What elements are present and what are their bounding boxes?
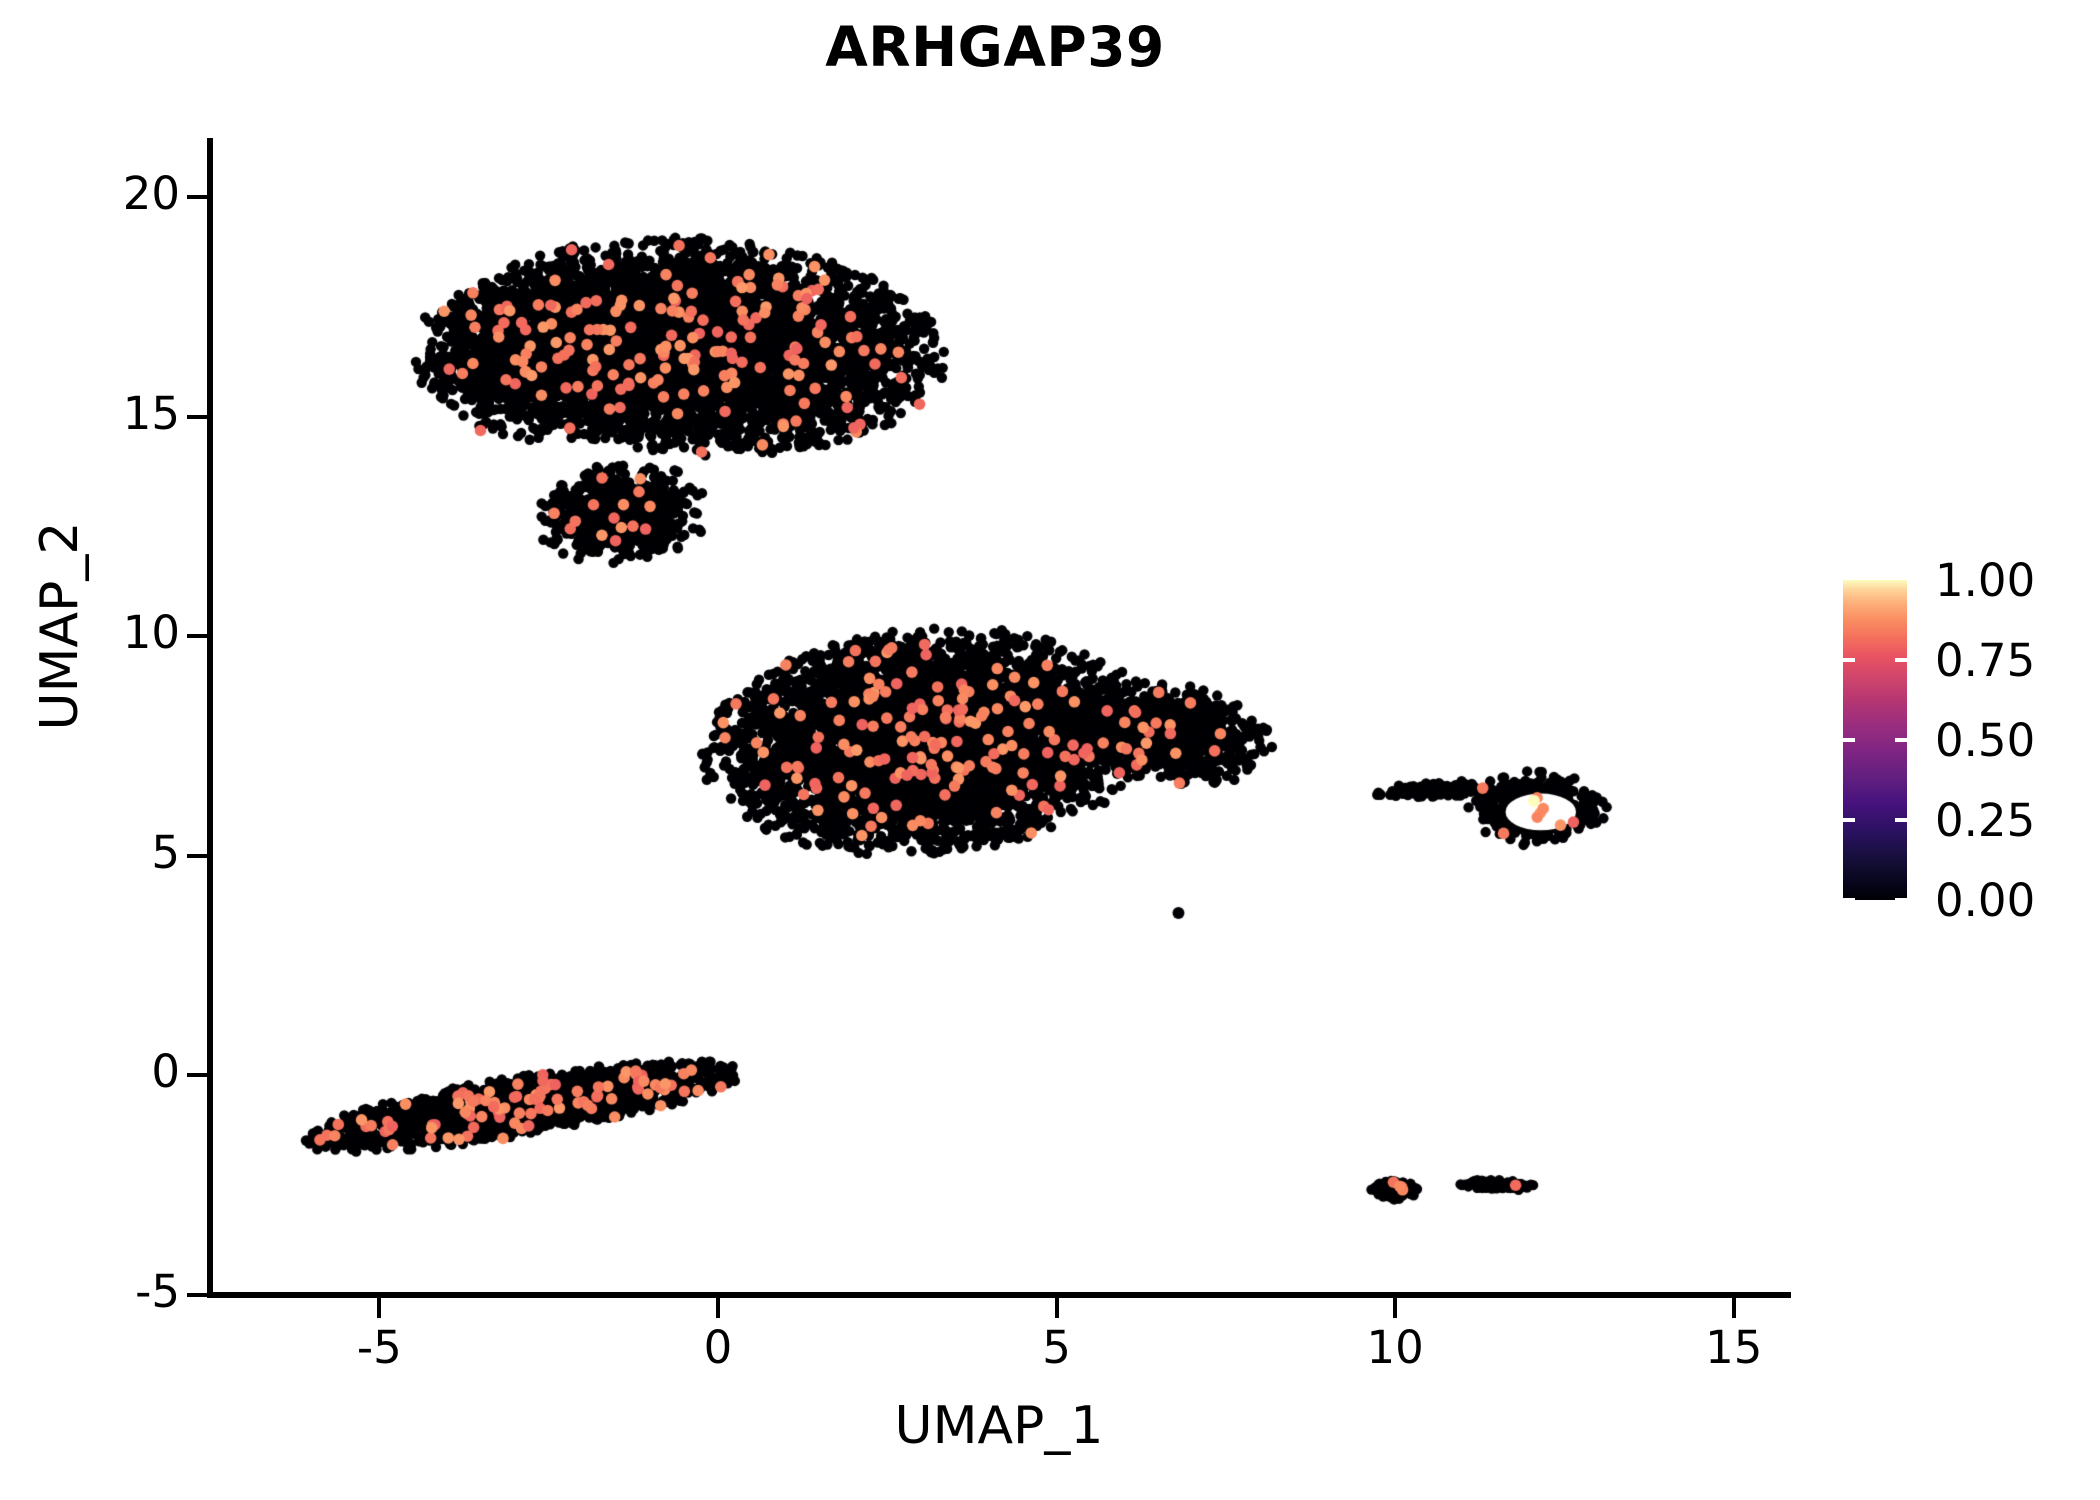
y-axis-label: UMAP_2 [34, 386, 86, 866]
colorbar-tick-mark [1843, 738, 1855, 742]
x-tick-mark [716, 1298, 720, 1318]
y-tick-label: 0 [0, 1049, 180, 1094]
colorbar-tick-label: 0.50 [1935, 718, 2035, 763]
plot-area [210, 140, 1788, 1295]
x-tick-mark [377, 1298, 381, 1318]
y-tick-mark [187, 195, 207, 199]
y-tick-mark [187, 854, 207, 858]
x-tick-label: 10 [1315, 1325, 1475, 1370]
colorbar-tick-label: 0.00 [1935, 878, 2035, 923]
colorbar-tick-mark [1895, 658, 1907, 662]
y-tick-label: -5 [0, 1269, 180, 1314]
colorbar-tick-mark [1843, 898, 1855, 902]
colorbar: 1.000.750.500.250.00 [1843, 580, 2083, 910]
page-title: ARHGAP39 [0, 20, 1990, 75]
colorbar-tick-label: 0.75 [1935, 638, 2035, 683]
x-tick-label: 5 [977, 1325, 1137, 1370]
y-tick-mark [187, 1293, 207, 1297]
x-tick-label: 0 [638, 1325, 798, 1370]
figure-root: ARHGAP39 -5051015 20151050-5 UMAP_1 UMAP… [0, 0, 2100, 1500]
x-tick-label: -5 [299, 1325, 459, 1370]
y-tick-mark [187, 415, 207, 419]
y-tick-mark [187, 634, 207, 638]
colorbar-tick-mark [1895, 818, 1907, 822]
colorbar-tick-label: 0.25 [1935, 798, 2035, 843]
x-tick-mark [1393, 1298, 1397, 1318]
scatter-canvas [210, 140, 1788, 1295]
x-tick-label: 15 [1654, 1325, 1814, 1370]
y-tick-mark [187, 1073, 207, 1077]
y-tick-label: 20 [0, 171, 180, 216]
y-tick-label: 15 [0, 391, 180, 436]
x-tick-mark [1055, 1298, 1059, 1318]
colorbar-tick-mark [1843, 658, 1855, 662]
y-tick-label: 10 [0, 610, 180, 655]
colorbar-tick-mark [1895, 898, 1907, 902]
colorbar-tick-mark [1843, 818, 1855, 822]
y-tick-label: 5 [0, 830, 180, 875]
colorbar-tick-mark [1895, 738, 1907, 742]
x-tick-mark [1732, 1298, 1736, 1318]
colorbar-tick-label: 1.00 [1935, 558, 2035, 603]
x-axis-label: UMAP_1 [210, 1400, 1788, 1452]
